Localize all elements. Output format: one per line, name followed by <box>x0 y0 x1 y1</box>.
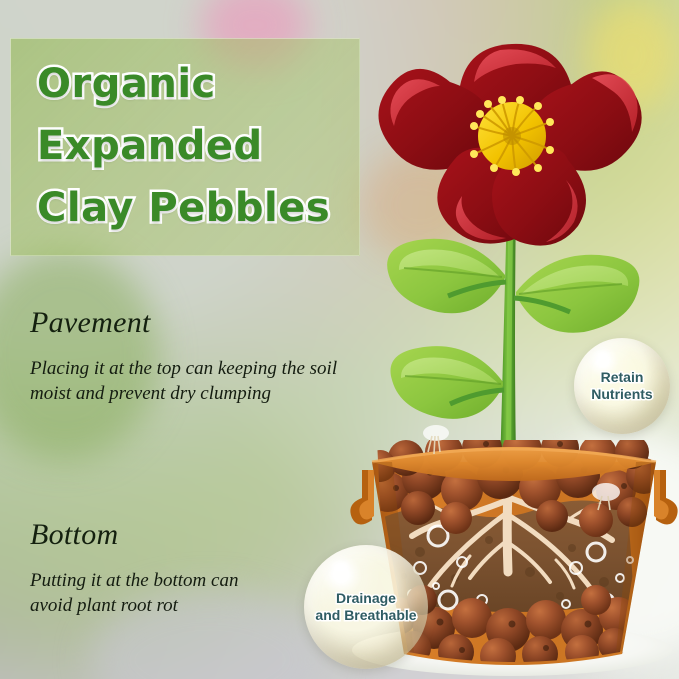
title-line-3: Clay Pebbles <box>37 177 359 239</box>
callout-bubble-drainage-breathable: Drainage and Breathable <box>304 545 428 669</box>
callout-bubble-retain-nutrients: Retain Nutrients <box>574 338 670 434</box>
bubble-glint-icon <box>332 561 349 572</box>
background-bokeh-yellow <box>585 0 679 110</box>
section-bottom: Bottom Putting it at the bottom can avoi… <box>30 518 280 618</box>
section-pavement: Pavement Placing it at the top can keepi… <box>30 306 350 406</box>
section-heading-bottom: Bottom <box>30 518 280 552</box>
title-line-1: Organic <box>37 53 359 115</box>
poster-canvas: Organic Expanded Clay Pebbles Pavement P… <box>0 0 679 679</box>
title-panel: Organic Expanded Clay Pebbles <box>10 38 360 256</box>
section-body-pavement: Placing it at the top can keeping the so… <box>30 356 350 406</box>
callout-label-retain-nutrients: Retain Nutrients <box>591 369 652 403</box>
section-body-bottom: Putting it at the bottom can avoid plant… <box>30 568 280 618</box>
background-bokeh-orange <box>360 150 480 260</box>
title-line-2: Expanded <box>37 115 359 177</box>
bubble-glint-icon <box>596 351 609 360</box>
callout-label-drainage-breathable: Drainage and Breathable <box>315 590 416 624</box>
section-heading-pavement: Pavement <box>30 306 350 340</box>
